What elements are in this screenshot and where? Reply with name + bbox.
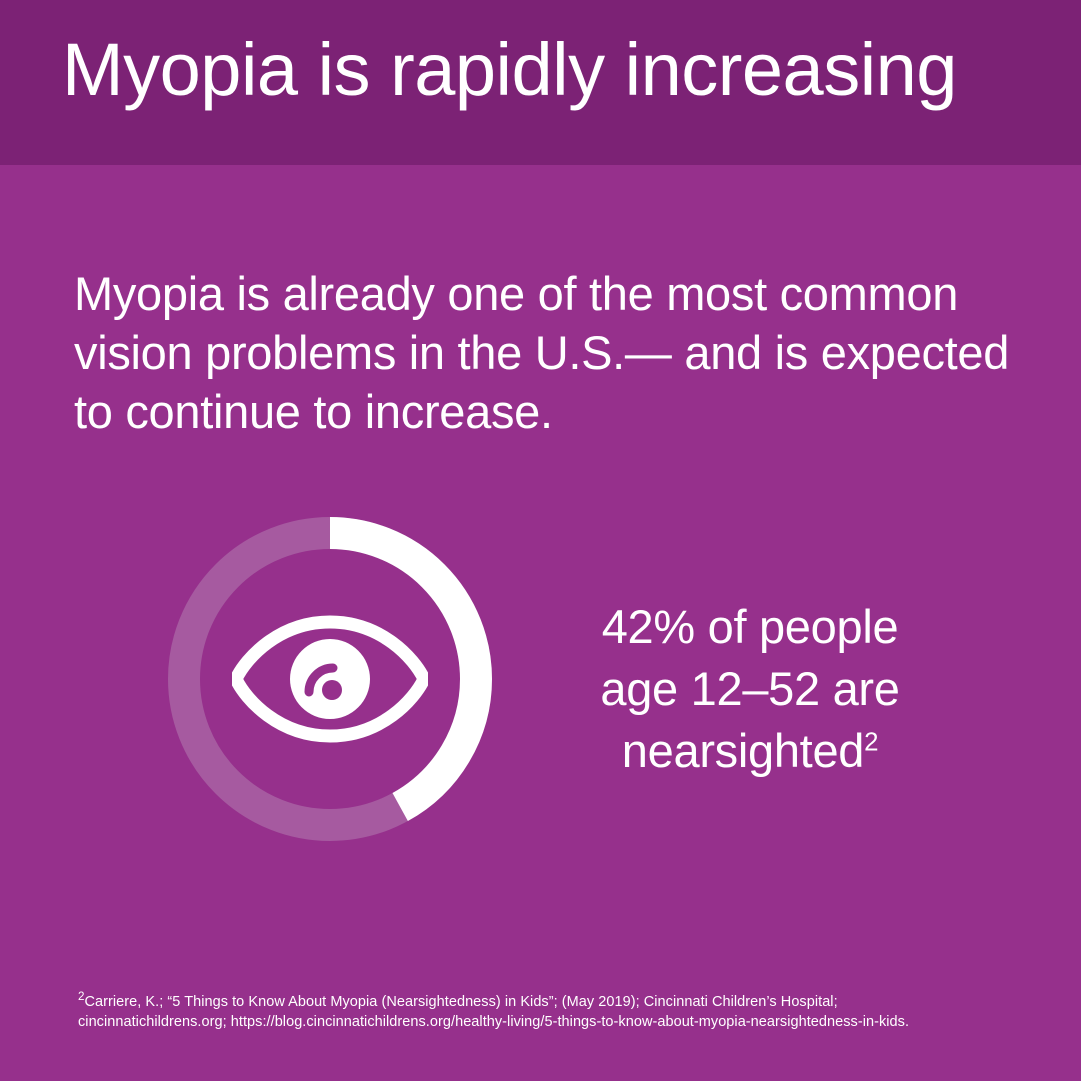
stat-line-3: nearsighted2: [520, 720, 980, 782]
header-band: Myopia is rapidly increasing: [0, 0, 1081, 165]
eye-iris-shape: [290, 639, 370, 719]
eye-icon-svg: [232, 614, 428, 744]
footnote-line-1: 2Carriere, K.; “5 Things to Know About M…: [78, 992, 1068, 1012]
stat-footnote-marker: 2: [864, 728, 878, 756]
stat-callout: 42% of people age 12–52 are nearsighted2: [520, 596, 980, 782]
intro-paragraph: Myopia is already one of the most common…: [74, 264, 1034, 441]
eye-icon: [232, 614, 428, 744]
donut-chart: [168, 517, 492, 841]
stat-line-1: 42% of people: [520, 596, 980, 658]
footnote-line-1-text: Carriere, K.; “5 Things to Know About My…: [85, 994, 838, 1010]
infographic-canvas: Myopia is rapidly increasing Myopia is a…: [0, 0, 1081, 1081]
stat-line-2: age 12–52 are: [520, 658, 980, 720]
eye-pupil-shape: [322, 680, 342, 700]
footnote-line-2: cincinnatichildrens.org; https://blog.ci…: [78, 1012, 1068, 1032]
stat-line-3-text: nearsighted: [622, 724, 864, 777]
page-title: Myopia is rapidly increasing: [62, 33, 957, 107]
footnote-citation: 2Carriere, K.; “5 Things to Know About M…: [78, 992, 1068, 1032]
